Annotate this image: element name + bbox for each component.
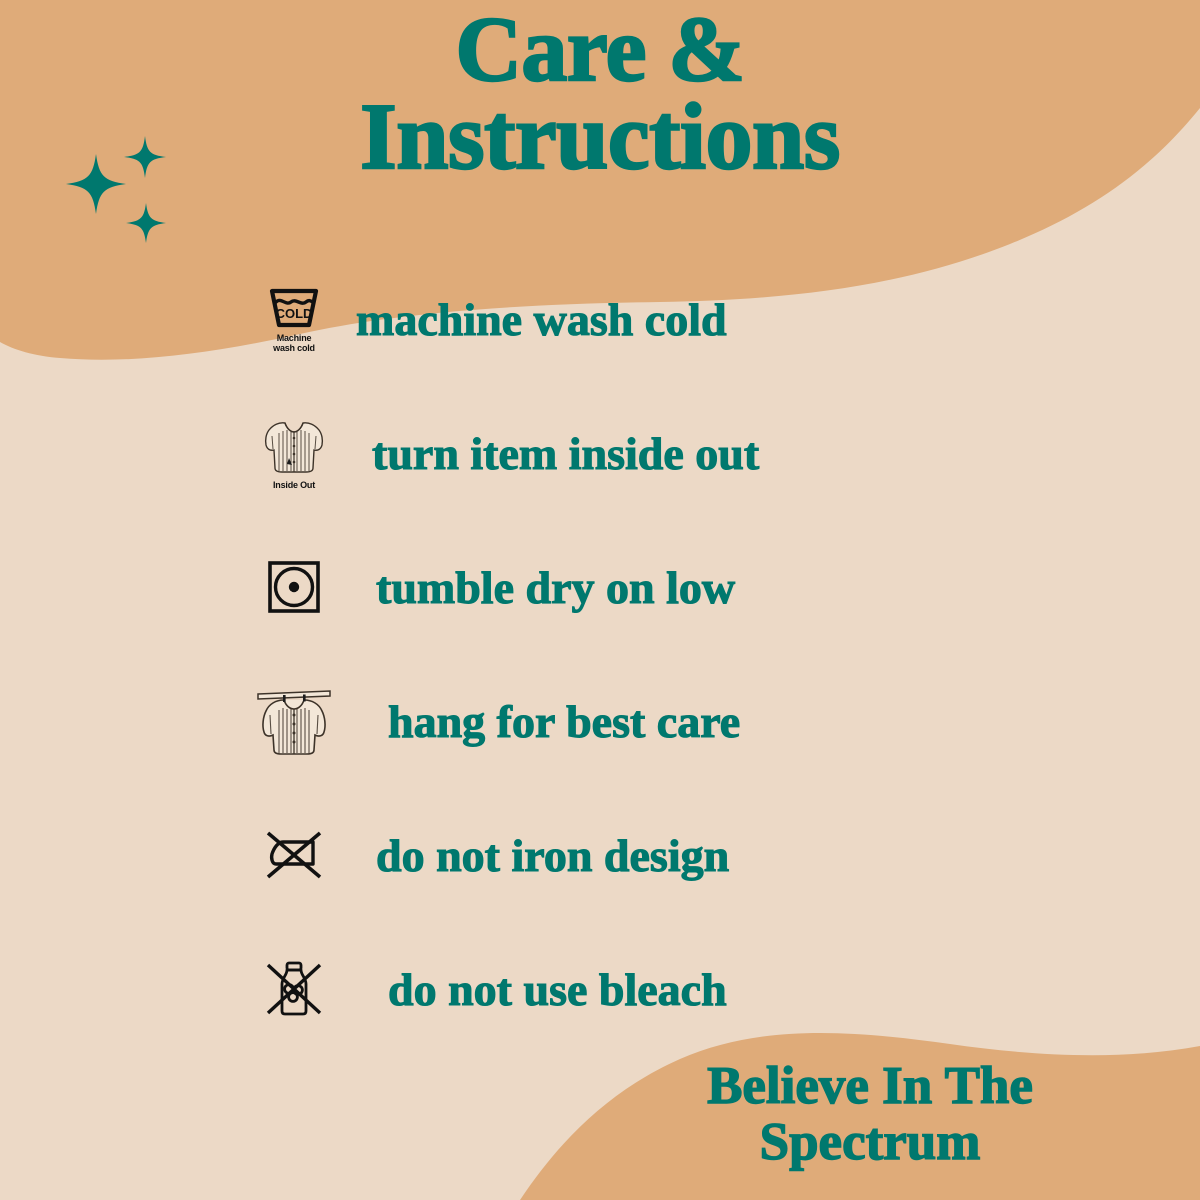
tumble-dry-low-icon <box>246 558 342 616</box>
striped-shirt-inside-out-icon: Inside Out <box>246 416 342 491</box>
icon-caption: Machine wash cold <box>273 334 315 353</box>
brand-line-2: Spectrum <box>620 1114 1120 1170</box>
care-label: do not iron design <box>342 829 729 882</box>
care-label: tumble dry on low <box>342 561 735 614</box>
title-line-1: Care & <box>0 6 1200 93</box>
hanging-shirt-icon <box>246 684 342 758</box>
care-row: hang for best care <box>246 654 1006 788</box>
do-not-iron-icon <box>246 826 342 884</box>
icon-caption-line-1: Inside Out <box>273 480 315 490</box>
icon-caption-line-1: Machine <box>277 333 312 343</box>
care-row: COLD Machine wash cold machine wash cold <box>246 252 1006 386</box>
poster-title: Care & Instructions <box>0 6 1200 183</box>
title-line-2: Instructions <box>0 93 1200 182</box>
icon-caption: Inside Out <box>273 481 315 491</box>
care-row: Inside Out turn item inside out <box>246 386 1006 520</box>
icon-caption-line-2: wash cold <box>273 343 315 353</box>
care-label: machine wash cold <box>342 293 727 346</box>
care-instruction-list: COLD Machine wash cold machine wash cold <box>246 252 1006 1056</box>
care-instructions-poster: Care & Instructions COLD Machine wash co… <box>0 0 1200 1200</box>
wash-tub-cold-icon: COLD Machine wash cold <box>246 285 342 353</box>
sparkle-small-icon <box>126 203 166 243</box>
care-row: do not use bleach <box>246 922 1006 1056</box>
brand-footer: Believe In The Spectrum <box>620 1058 1120 1170</box>
care-label: hang for best care <box>342 695 740 748</box>
do-not-bleach-icon <box>246 956 342 1022</box>
care-row: do not iron design <box>246 788 1006 922</box>
brand-line-1: Believe In The <box>620 1058 1120 1114</box>
care-label: do not use bleach <box>342 963 727 1016</box>
care-row: tumble dry on low <box>246 520 1006 654</box>
svg-text:COLD: COLD <box>276 306 313 321</box>
care-label: turn item inside out <box>342 427 759 480</box>
